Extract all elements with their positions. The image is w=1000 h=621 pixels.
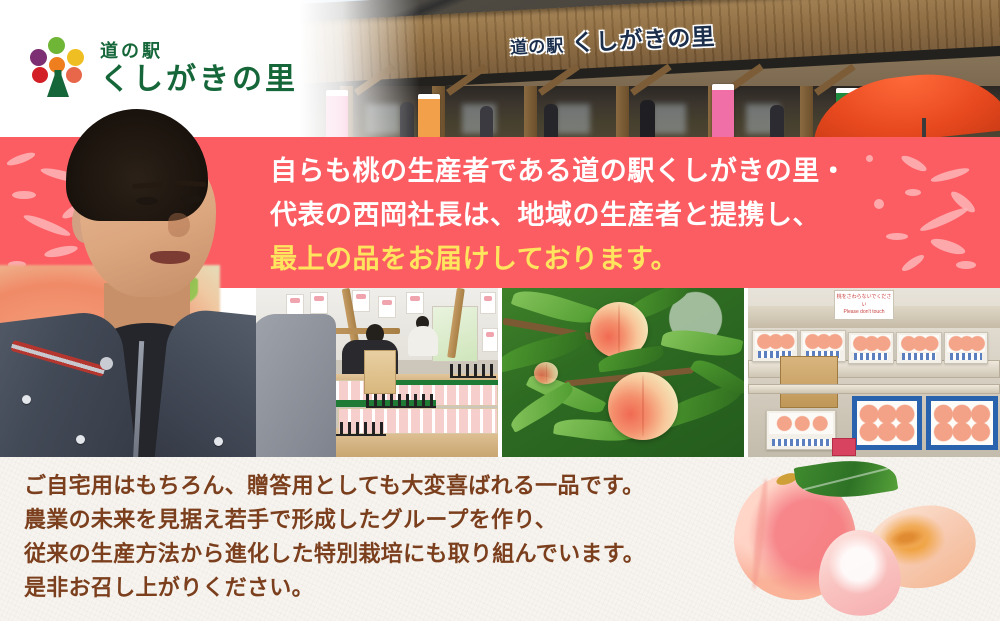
peach-gift-box — [766, 410, 836, 450]
quote-line-3-highlight: 最上の品をお届けしております。 — [270, 237, 890, 281]
storefront-sign-main: くしがきの里 — [571, 23, 716, 56]
peach-fruit — [534, 362, 558, 384]
photo-fade-overlay — [300, 0, 420, 138]
eye — [180, 195, 202, 203]
eye — [136, 197, 158, 205]
wooden-gift-box — [780, 356, 838, 408]
nobori-banner — [712, 84, 734, 138]
wooden-sign-box — [364, 350, 396, 394]
price-tag-rack — [366, 394, 436, 408]
storefront-sign-prefix: 道の駅 — [510, 36, 565, 57]
red-dot — [32, 67, 48, 83]
photo-market-stand — [256, 288, 498, 457]
logo-sub-text: 道の駅 — [100, 42, 298, 60]
foreground-shoulder — [256, 314, 336, 457]
support-post — [524, 86, 537, 138]
visitor-silhouette — [480, 106, 493, 138]
notice-line-1: 桃をさわらないでください — [837, 294, 892, 308]
peach-gift-box — [848, 332, 894, 364]
mouth — [150, 251, 190, 264]
do-not-touch-sign: 桃をさわらないでください Please don't touch — [834, 290, 894, 320]
logo-main-text: くしがきの里 — [100, 65, 298, 95]
bottom-text-block: ご自宅用はもちろん、贈答用としても大変喜ばれる一品です。 農業の未来を見据え若手… — [24, 469, 754, 605]
wall-card — [406, 292, 424, 314]
bottom-line-2: 農業の未来を見据え若手で形成したグループを作り、 — [24, 503, 754, 537]
quote-line-1: 自らも桃の生産者である道の駅くしがきの里・ — [270, 149, 890, 193]
wall-card — [310, 292, 328, 314]
green-dot — [48, 37, 65, 54]
tree-logo-icon — [30, 37, 86, 99]
wall-card — [286, 294, 304, 316]
peach-watercolor-illustration — [726, 448, 994, 621]
purple-dot — [30, 49, 47, 66]
nobori-banner — [418, 94, 440, 138]
peach-gift-box — [944, 332, 988, 364]
logo-wordmark: 道の駅 くしがきの里 — [100, 42, 298, 95]
visitor-silhouette — [640, 100, 655, 138]
price-tag-rack — [450, 364, 496, 378]
quote-text-block: 自らも桃の生産者である道の駅くしがきの里・ 代表の西岡社長は、地域の生産者と提携… — [270, 149, 890, 281]
support-post — [800, 86, 813, 138]
visitor-silhouette — [544, 104, 558, 138]
shelf-edge — [748, 384, 1000, 394]
bottom-line-4: 是非お召し上がりください。 — [24, 571, 754, 605]
peach-gift-box — [896, 332, 942, 364]
photo-boxed-peaches: 桃をさわらないでください Please don't touch — [748, 288, 1000, 457]
coral-dot — [66, 67, 82, 83]
wall-card — [352, 290, 370, 312]
blue-peach-box — [852, 396, 922, 450]
staff-figure — [408, 326, 438, 356]
bottom-line-3: 従来の生産方法から進化した特別栽培にも取り組んでいます。 — [24, 537, 754, 571]
photo-strip: 桃をさわらないでください Please don't touch — [0, 288, 1000, 457]
wall-card — [480, 292, 496, 314]
support-post — [616, 86, 629, 138]
wall-card — [378, 296, 396, 318]
hair — [66, 109, 208, 221]
brand-logo[interactable]: 道の駅 くしがきの里 — [30, 32, 300, 104]
visitor-silhouette — [770, 105, 784, 138]
wall-card — [482, 328, 498, 352]
peach-fruit — [608, 372, 678, 440]
blue-peach-box — [926, 396, 998, 450]
parasol-pole — [922, 118, 926, 138]
yellow-dot — [67, 49, 84, 66]
photo-storefront: 道の駅 くしがきの里 — [300, 0, 1000, 138]
notice-line-2: Please don't touch — [844, 309, 885, 315]
photo-peach-tree — [502, 288, 744, 457]
nose — [168, 213, 190, 237]
window-glow — [556, 104, 590, 134]
quote-line-2: 代表の西岡社長は、地域の生産者と提携し、 — [270, 193, 890, 237]
promotional-banner: 道の駅 くしがきの里 — [0, 0, 1000, 621]
bottom-line-1: ご自宅用はもちろん、贈答用としても大変喜ばれる一品です。 — [24, 469, 754, 503]
window-glow — [652, 104, 686, 134]
